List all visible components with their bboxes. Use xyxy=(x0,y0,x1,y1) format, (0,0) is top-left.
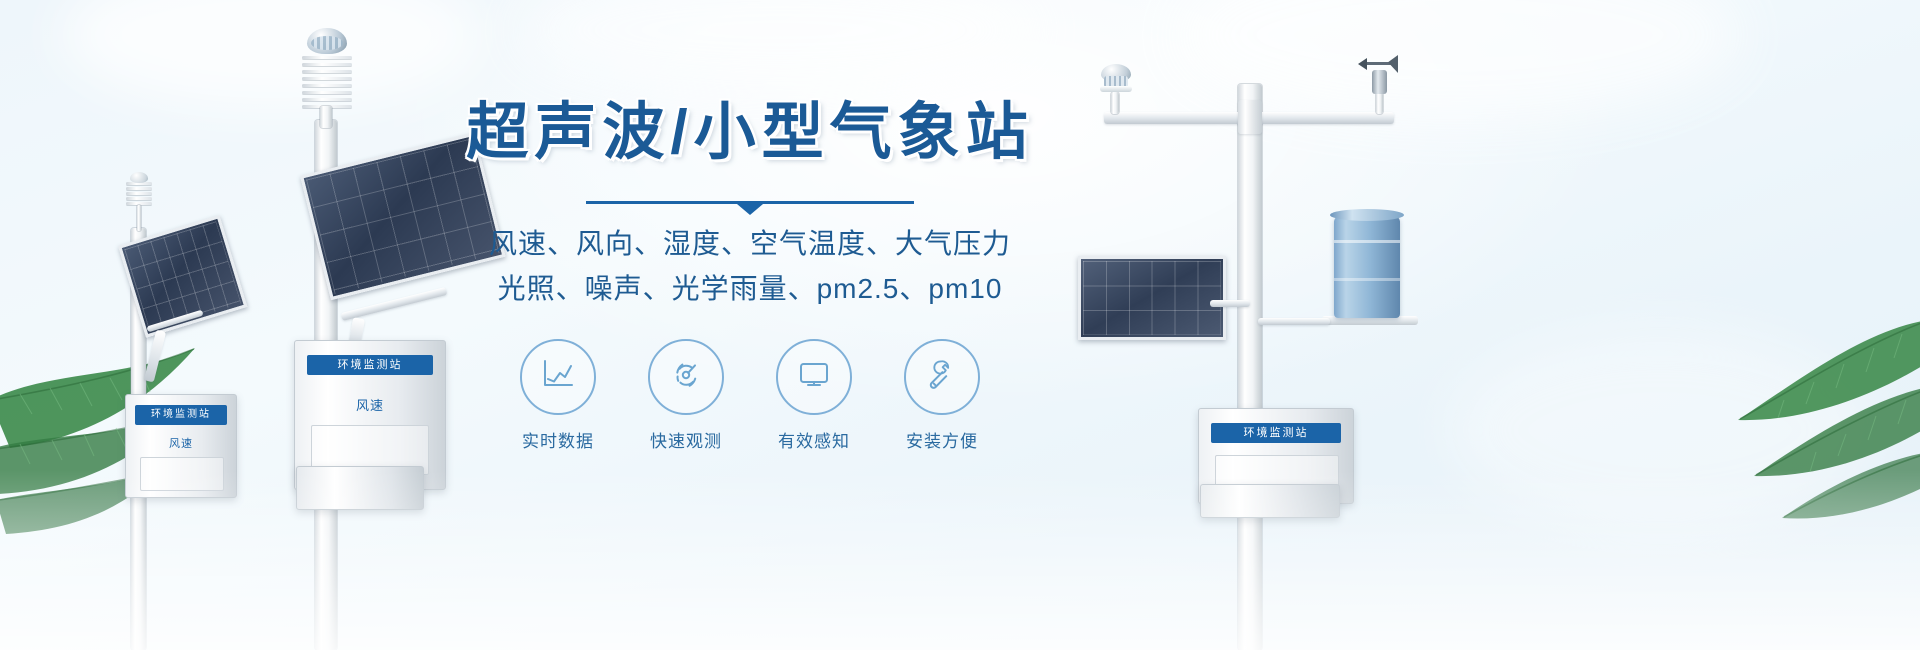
subtitle-line-1: 风速、风向、湿度、空气温度、大气压力 xyxy=(440,222,1060,265)
feature-icon-ring xyxy=(648,339,724,415)
left-small-cabinet-label: 环境监测站 xyxy=(135,405,227,425)
left-small-brand-label: 风速 xyxy=(126,435,236,451)
feature-item-easy-installation[interactable]: 安装方便 xyxy=(899,339,985,452)
line-chart-icon xyxy=(538,354,578,399)
monitor-screen-icon xyxy=(794,354,834,399)
left-main-brand-label: 风速 xyxy=(295,395,445,414)
feature-label: 有效感知 xyxy=(771,427,857,452)
feature-label: 快速观测 xyxy=(643,427,729,452)
weather-station-banner: 环境监测站 风速 环境监测站 风速 xyxy=(0,0,1920,650)
feature-item-fast-observation[interactable]: 快速观测 xyxy=(643,339,729,452)
feature-label: 安装方便 xyxy=(899,427,985,452)
divider xyxy=(586,201,914,204)
feature-icon-ring xyxy=(904,339,980,415)
feature-label: 实时数据 xyxy=(515,427,601,452)
bottom-haze xyxy=(0,470,1920,650)
feature-icon-ring xyxy=(776,339,852,415)
left-main-cabinet-label: 环境监测站 xyxy=(307,355,433,375)
banner-content: 超声波/小型气象站 风速、风向、湿度、空气温度、大气压力 光照、噪声、光学雨量、… xyxy=(440,100,1060,452)
feature-list: 实时数据 快 xyxy=(440,339,1060,452)
triangle-down-icon xyxy=(737,204,763,215)
radar-signal-icon xyxy=(666,354,706,399)
feature-icon-ring xyxy=(520,339,596,415)
subtitle-line-2: 光照、噪声、光学雨量、pm2.5、pm10 xyxy=(440,267,1060,310)
feature-item-realtime-data[interactable]: 实时数据 xyxy=(515,339,601,452)
page-title: 超声波/小型气象站 xyxy=(440,100,1060,165)
wrench-icon xyxy=(922,354,962,399)
feature-item-effective-sensing[interactable]: 有效感知 xyxy=(771,339,857,452)
right-cabinet-label: 环境监测站 xyxy=(1211,423,1340,443)
